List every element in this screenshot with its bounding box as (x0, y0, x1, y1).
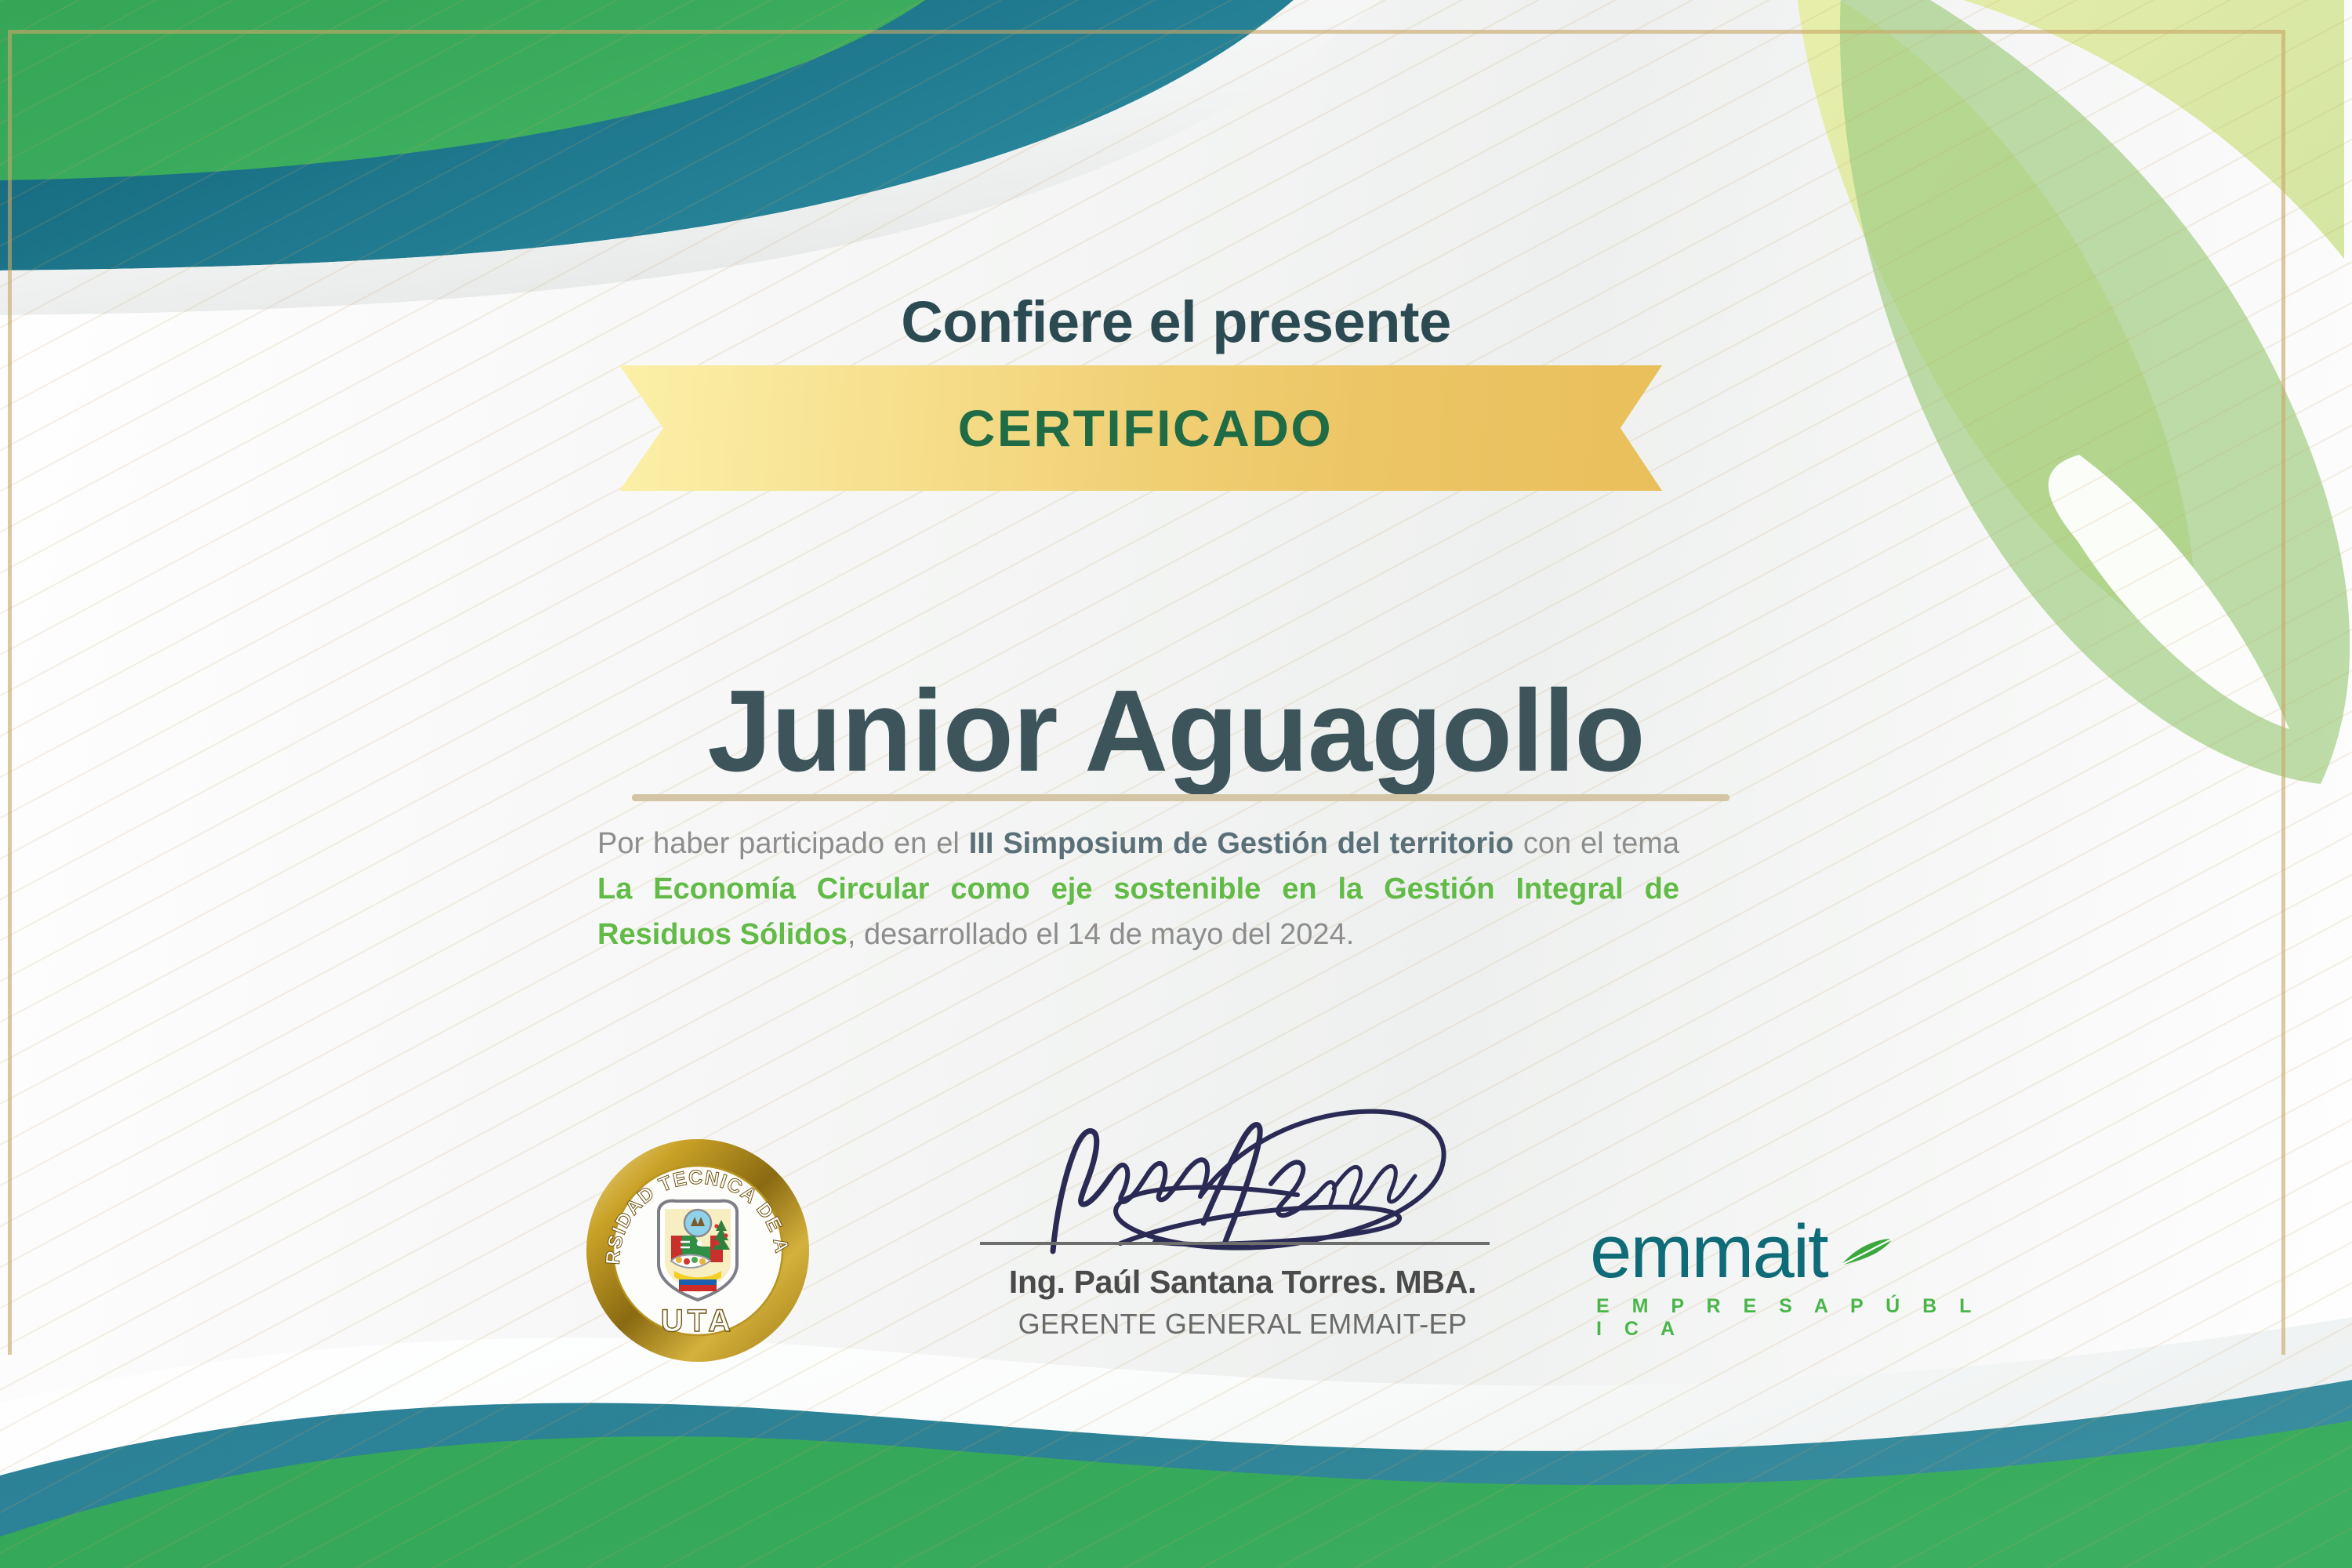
ribbon-label: CERTIFICADO (619, 365, 1662, 491)
signature-rule (980, 1242, 1490, 1245)
emmait-tagline: E M P R E S A P Ú B L I C A (1596, 1295, 2005, 1341)
page-title: Confiere el presente (0, 289, 2352, 355)
citation-event-name: III Simposium de Gestión del territorio (969, 827, 1514, 860)
leaf-icon (1838, 1236, 1896, 1269)
citation-segment-2: con el tema (1514, 827, 1679, 860)
recipient-name: Junior Aguagollo (0, 673, 2352, 791)
uta-seal-logo: UNIVERSIDAD TECNICA DE AMBATO (584, 1137, 811, 1364)
emmait-logo: emmait E M P R E S A P Ú B L I C A (1590, 1214, 2005, 1331)
citation-paragraph: Por haber participado en el III Simposiu… (597, 822, 1679, 957)
recipient-underline (632, 794, 1730, 801)
emmait-wordmark: emmait (1590, 1209, 1828, 1295)
citation-segment-1: Por haber participado en el (597, 827, 969, 860)
certificado-ribbon: CERTIFICADO (619, 365, 1662, 491)
seal-acronym: UTA (661, 1304, 735, 1338)
signature-ink-strokes (968, 1098, 1517, 1254)
signatory-role: GERENTE GENERAL EMMAIT-EP (968, 1308, 1517, 1341)
signatory-name: Ing. Paúl Santana Torres. MBA. (968, 1264, 1517, 1301)
handwritten-signature (968, 1098, 1517, 1239)
citation-segment-3: , desarrollado el 14 de mayo del 2024. (848, 918, 1354, 951)
certificate-canvas: Confiere el presente CERTIFICADO Junior … (0, 0, 2352, 1568)
signature-block: Ing. Paúl Santana Torres. MBA. GERENTE G… (968, 1098, 1517, 1239)
